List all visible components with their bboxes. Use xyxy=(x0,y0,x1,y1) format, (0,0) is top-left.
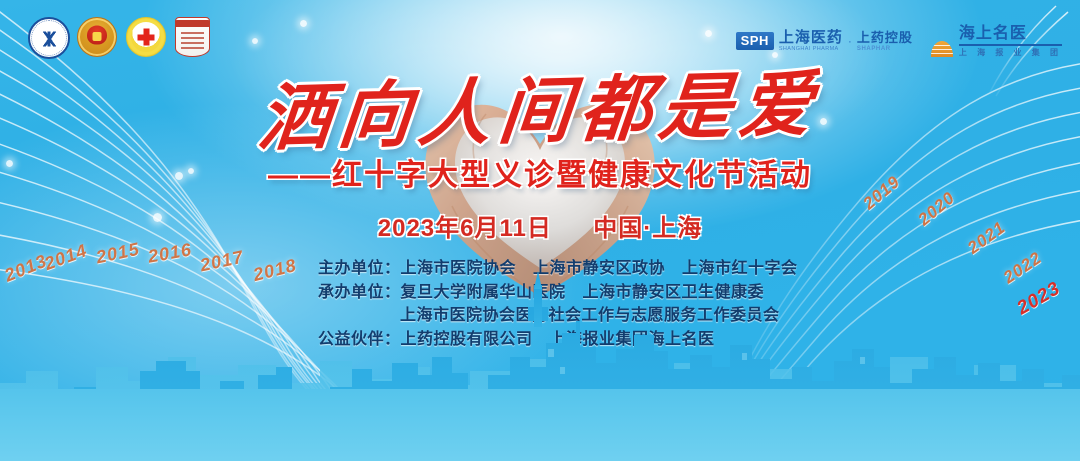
bokeh-dot xyxy=(300,20,307,27)
bokeh-dot xyxy=(252,38,258,44)
event-location: 中国·上海 xyxy=(593,215,702,242)
poster-subtitle: ——红十字大型义诊暨健康文化节活动 xyxy=(0,150,1080,194)
shaphar-english-name: SHAPHAR xyxy=(857,46,913,52)
red-cross-emblem xyxy=(126,17,164,55)
divider xyxy=(959,44,1062,46)
shanghai-hospital-association-emblem xyxy=(28,17,66,55)
cppcc-emblem xyxy=(77,17,115,55)
huashan-hospital-emblem xyxy=(175,17,213,55)
event-banner-poster: SPH 上海医药 SHANGHAI PHARMA · 上药控股 SHAPHAR … xyxy=(0,0,1080,461)
sph-chinese-name: 上海医药 xyxy=(779,30,843,45)
bokeh-dot xyxy=(705,30,712,37)
event-dateline: 2023年6月11日 中国·上海 xyxy=(0,208,1080,243)
year-label-2015: 2015 xyxy=(94,239,141,269)
year-label-2016: 2016 xyxy=(147,239,194,267)
poster-headline: 洒向人间都是爱 xyxy=(0,52,1080,157)
shaphar-chinese-name: 上药控股 xyxy=(857,31,913,44)
organizer-emblem-row xyxy=(28,17,213,55)
sponsor-separator-dot: · xyxy=(848,34,852,48)
foreground-ground-band xyxy=(0,389,1080,461)
event-date: 2023年6月11日 xyxy=(378,215,552,242)
haishang-chinese-name: 海上名医 xyxy=(959,26,1062,42)
year-label-2014: 2014 xyxy=(42,240,91,275)
headline-calligraphy-text: 洒向人间都是爱 xyxy=(254,45,826,165)
